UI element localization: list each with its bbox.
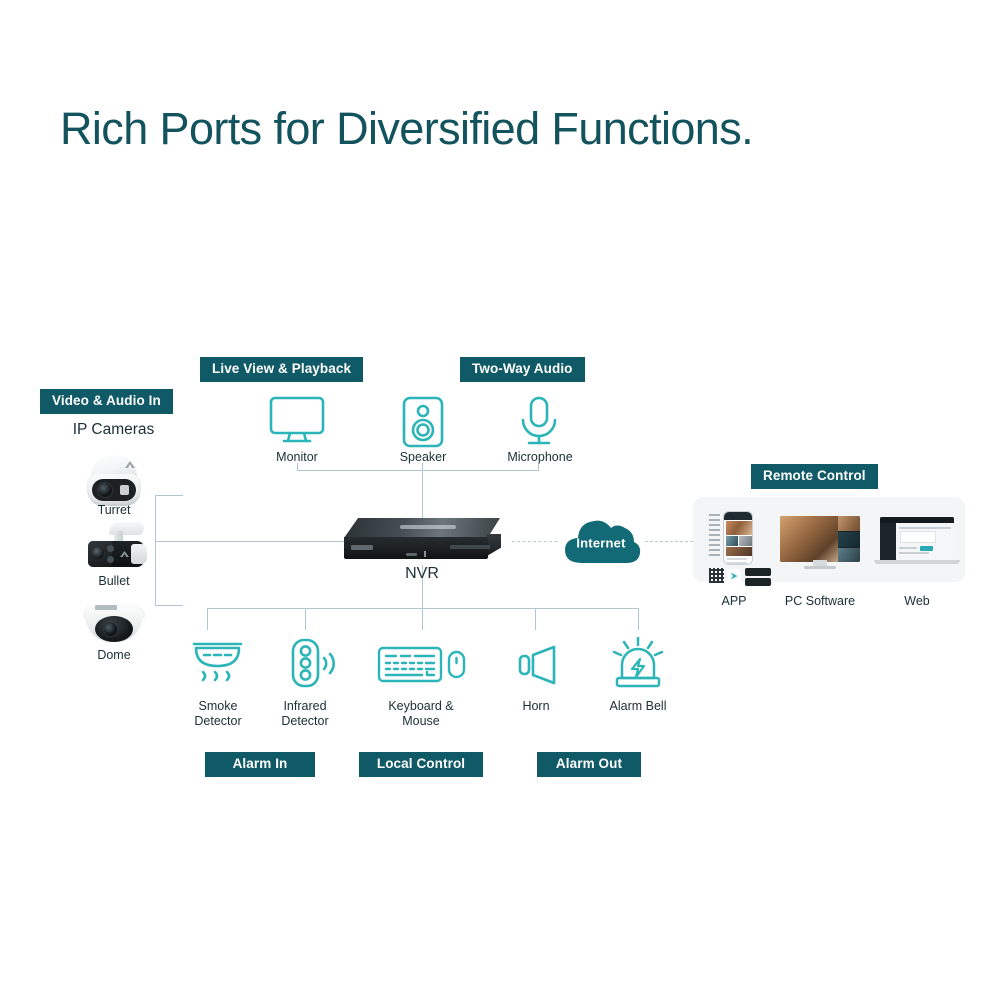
laptop-web-icon <box>874 512 960 570</box>
connector-horn-drop <box>535 608 536 630</box>
alarm-bell-icon <box>609 637 667 694</box>
peripheral-label-horn: Horn <box>503 699 569 714</box>
peripheral-label-keyboard-mouse: Keyboard & Mouse <box>371 699 471 730</box>
remote-label-web: Web <box>886 594 948 608</box>
connector-camera-to-nvr <box>155 541 345 542</box>
badge-remote-control: Remote Control <box>751 464 878 489</box>
peripheral-label-smoke-detector: Smoke Detector <box>172 699 264 730</box>
cloud-icon: Internet <box>559 511 643 571</box>
bullet-camera-icon <box>84 522 150 570</box>
microphone-icon <box>515 396 563 453</box>
horn-icon <box>518 644 560 691</box>
connector-kbm-drop <box>422 608 423 630</box>
google-play-badge <box>745 578 771 586</box>
nvr-label: NVR <box>382 564 462 584</box>
badge-video-audio-in: Video & Audio In <box>40 389 173 414</box>
connector-dome <box>155 605 183 606</box>
speaker-icon <box>401 396 445 453</box>
badge-local-control: Local Control <box>359 752 483 777</box>
internet-label: Internet <box>559 536 643 551</box>
qr-code-icon <box>709 568 724 583</box>
smoke-detector-icon <box>190 640 245 691</box>
nvr-device-icon <box>344 518 502 562</box>
phone-list-ticks <box>709 514 721 560</box>
badge-alarm-out: Alarm Out <box>537 752 641 777</box>
badge-live-view-playback: Live View & Playback <box>200 357 363 382</box>
av-label-speaker: Speaker <box>378 450 468 465</box>
av-label-microphone: Microphone <box>495 450 585 465</box>
badge-two-way-audio: Two-Way Audio <box>460 357 585 382</box>
connector-infrared-drop <box>305 608 306 630</box>
connector-smoke-drop <box>207 608 208 630</box>
keyboard-mouse-icon <box>377 645 467 690</box>
dome-camera-icon <box>83 600 145 646</box>
badge-alarm-in: Alarm In <box>205 752 315 777</box>
connector-nvr-to-internet <box>512 541 557 542</box>
ip-cameras-heading: IP Cameras <box>45 421 182 440</box>
peripheral-label-infrared-detector: Infrared Detector <box>259 699 351 730</box>
connector-av-to-nvr <box>422 470 423 518</box>
app-store-badge <box>745 568 771 576</box>
turret-camera-icon <box>85 455 143 507</box>
remote-label-app: APP <box>699 594 769 608</box>
smartphone-app-icon <box>707 508 773 586</box>
connector-camera-spine <box>155 495 156 605</box>
monitor-icon <box>268 396 326 451</box>
remote-label-pc-software: PC Software <box>778 594 862 608</box>
connector-av-bus <box>297 470 538 471</box>
av-label-monitor: Monitor <box>252 450 342 465</box>
camera-label-bullet: Bullet <box>74 574 154 589</box>
connector-turret <box>155 495 183 496</box>
connector-internet-to-remote <box>645 541 693 542</box>
camera-label-turret: Turret <box>74 503 154 518</box>
page-title: Rich Ports for Diversified Functions. <box>60 103 753 155</box>
peripheral-label-alarm-bell: Alarm Bell <box>600 699 676 714</box>
infrared-detector-icon <box>289 638 337 693</box>
connector-bell-drop <box>638 608 639 630</box>
desktop-monitor-icon <box>780 510 860 572</box>
diagram-canvas: Rich Ports for Diversified Functions. Vi… <box>0 0 1000 1000</box>
camera-label-dome: Dome <box>74 648 154 663</box>
